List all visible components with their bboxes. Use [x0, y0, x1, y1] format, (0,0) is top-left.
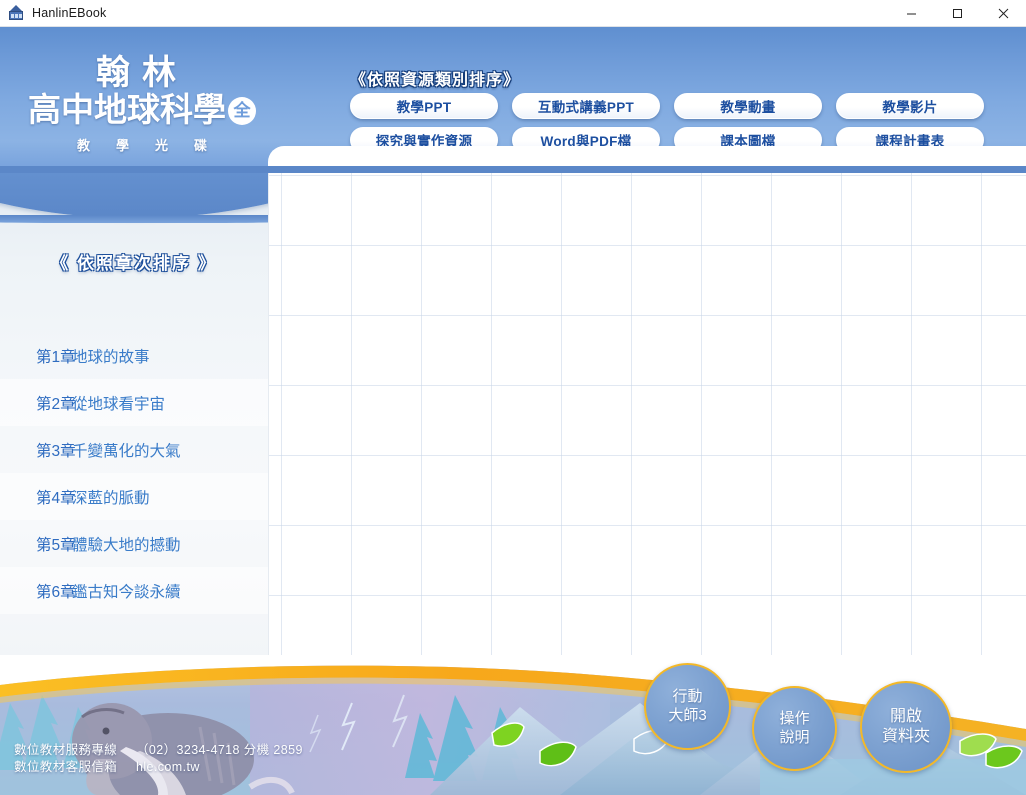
category-button-teaching-animation[interactable]: 教學動畫 [674, 93, 822, 119]
application-window: HanlinEBook 翰林 高中地球科學 全 教學光碟 [0, 0, 1026, 795]
chapter-item-6[interactable]: 第6章 鑑古知今談永續 [0, 567, 268, 614]
chapter-item-2[interactable]: 第2章 從地球看宇宙 [0, 379, 268, 426]
contact-phone-value: （02）3234-4718 分機 2859 [136, 742, 303, 759]
contact-phone-row: 數位教材服務專線 （02）3234-4718 分機 2859 [14, 742, 303, 759]
brand-logo: 翰林 高中地球科學 全 教學光碟 [14, 55, 270, 154]
title-bar: HanlinEBook [0, 0, 1026, 27]
chapter-number: 第2章 [0, 392, 72, 414]
sidebar-curve-decoration [0, 173, 268, 218]
contact-mail-row: 數位教材客服信箱 hle.com.tw [14, 759, 303, 776]
chapter-item-3[interactable]: 第3章 千變萬化的大氣 [0, 426, 268, 473]
close-icon [998, 8, 1009, 19]
contact-mail-label: 數位教材客服信箱 [14, 759, 126, 776]
instructions-line-1: 操作 [779, 710, 809, 728]
brand-line-3: 教學光碟 [14, 138, 270, 154]
open-folder-line-1: 開啟 [890, 707, 922, 727]
brand-badge: 全 [228, 97, 256, 125]
chapter-title: 體驗大地的撼動 [72, 533, 181, 555]
category-button-grid: 教學PPT 互動式講義PPT 教學動畫 教學影片 探究與實作資源 Word與PD… [350, 93, 984, 153]
contact-phone-label: 數位教材服務專線 [14, 742, 126, 759]
instructions-button[interactable]: 操作 說明 [752, 686, 837, 771]
chapter-item-4[interactable]: 第4章 深藍的脈動 [0, 473, 268, 520]
resource-content-panel[interactable] [268, 173, 1026, 661]
app-building-icon [8, 5, 24, 21]
mobile-master-line-1: 行動 [672, 688, 702, 706]
chapter-sort-title: 《 依照章次排序 》 [0, 249, 268, 274]
chapter-sidebar: 《 依照章次排序 》 第1章 地球的故事 第2章 從地球看宇宙 第3章 千變萬化… [0, 173, 268, 661]
chapter-title: 深藍的脈動 [72, 486, 150, 508]
chapter-title: 地球的故事 [72, 345, 150, 367]
maximize-icon [952, 8, 963, 19]
minimize-button[interactable] [888, 0, 934, 27]
category-button-teaching-video[interactable]: 教學影片 [836, 93, 984, 119]
chapter-title: 從地球看宇宙 [72, 392, 165, 414]
category-sort-title: 《依照資源類別排序》 [350, 66, 520, 90]
category-button-teaching-ppt[interactable]: 教學PPT [350, 93, 498, 119]
maximize-button[interactable] [934, 0, 980, 27]
minimize-icon [906, 8, 917, 19]
chapter-title: 千變萬化的大氣 [72, 439, 181, 461]
contact-mail-value[interactable]: hle.com.tw [136, 759, 200, 776]
chapter-title: 鑑古知今談永續 [72, 580, 181, 602]
chapter-item-5[interactable]: 第5章 體驗大地的撼動 [0, 520, 268, 567]
instructions-line-2: 說明 [779, 729, 809, 747]
chapter-number: 第1章 [0, 345, 72, 367]
chapter-item-1[interactable]: 第1章 地球的故事 [0, 332, 268, 379]
brand-line-2: 高中地球科學 全 [14, 92, 270, 129]
chapter-number: 第3章 [0, 439, 72, 461]
brand-line-1: 翰林 [14, 55, 270, 91]
category-button-interactive-ppt[interactable]: 互動式講義PPT [512, 93, 660, 119]
chapter-number: 第4章 [0, 486, 72, 508]
chapter-number: 第5章 [0, 533, 72, 555]
open-folder-button[interactable]: 開啟 資料夾 [860, 681, 952, 773]
open-folder-line-2: 資料夾 [882, 727, 930, 747]
header-notch [268, 146, 1026, 173]
mobile-master-button[interactable]: 行動 大師3 [644, 663, 731, 750]
brand-line-2-text: 高中地球科學 [28, 92, 226, 129]
close-button[interactable] [980, 0, 1026, 27]
window-title: HanlinEBook [32, 6, 106, 20]
chapter-number: 第6章 [0, 580, 72, 602]
chapter-list: 第1章 地球的故事 第2章 從地球看宇宙 第3章 千變萬化的大氣 第4章 深藍的… [0, 332, 268, 614]
mobile-master-line-2: 大師3 [668, 707, 706, 725]
header-banner: 翰林 高中地球科學 全 教學光碟 《依照資源類別排序》 教學PPT 互動式講義P… [0, 27, 1026, 173]
contact-info: 數位教材服務專線 （02）3234-4718 分機 2859 數位教材客服信箱 … [14, 742, 303, 776]
